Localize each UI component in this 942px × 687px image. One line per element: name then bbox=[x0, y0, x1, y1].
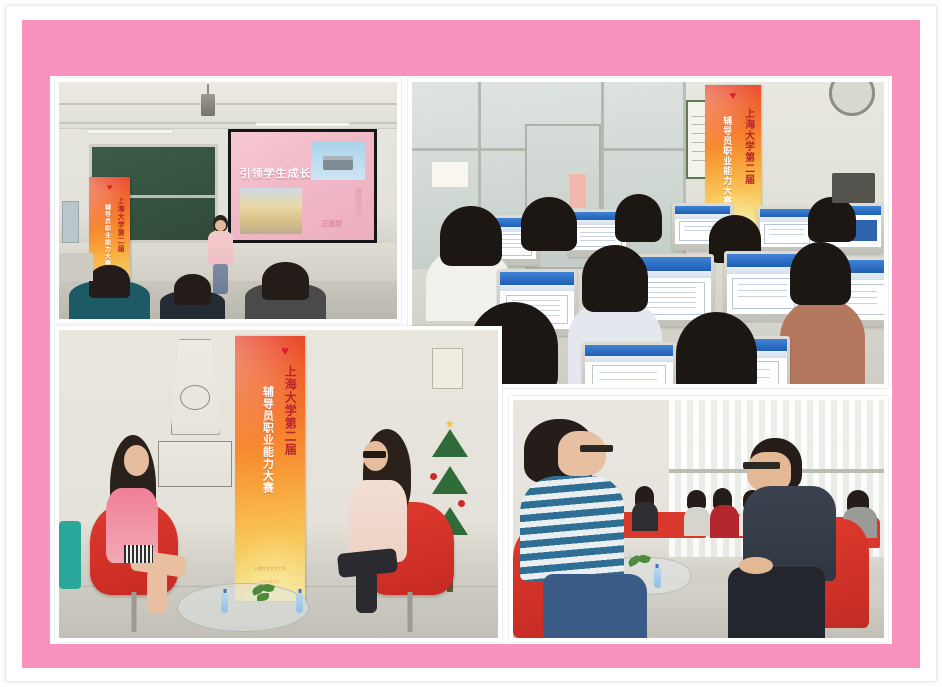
observer-body bbox=[710, 505, 740, 538]
teal-stool bbox=[59, 521, 81, 589]
lab-person-head bbox=[790, 242, 851, 305]
photo-lounge-discussion[interactable] bbox=[509, 396, 888, 642]
wall-clock-icon bbox=[829, 82, 875, 116]
person-face bbox=[558, 431, 606, 476]
lab-person-head bbox=[582, 245, 648, 311]
water-bottle bbox=[296, 593, 303, 613]
monitor-screen bbox=[585, 345, 673, 384]
presenter-face bbox=[215, 220, 226, 231]
observer-body bbox=[632, 502, 658, 531]
projection-screen: 引领学生成长 跨越成长 正面型 bbox=[228, 129, 377, 243]
room-scene: ★ ♥ 上海大学第二届 辅导员职业能力大赛 上海大学学生工作 2014年5月 bbox=[59, 330, 498, 638]
banner-text-white: 辅导员职业能力大赛 bbox=[721, 116, 734, 206]
heart-logo-icon: ♥ bbox=[730, 91, 737, 102]
slide-image-building bbox=[311, 141, 365, 180]
person-hands bbox=[739, 557, 772, 574]
banner-text-white: 辅导员职业能力大赛 bbox=[259, 386, 275, 494]
person-leg bbox=[147, 570, 168, 613]
computer-monitor bbox=[582, 342, 676, 384]
wall-unit bbox=[62, 201, 79, 244]
equipment-cart bbox=[59, 253, 93, 281]
person-striped-polo bbox=[520, 476, 624, 581]
banner-text-red: 上海大学第二届 bbox=[741, 108, 756, 185]
audience-head bbox=[174, 274, 211, 305]
collage-canvas: 引领学生成长 跨越成长 正面型 ♥ 上海大学第二届 辅导员职业能力大赛 bbox=[0, 0, 942, 687]
ceiling-projector bbox=[201, 94, 215, 116]
slide-subtitle: 跨越成长 bbox=[352, 188, 362, 216]
classroom-scene: 引领学生成长 跨越成长 正面型 ♥ 上海大学第二届 辅导员职业能力大赛 bbox=[59, 82, 397, 319]
rollup-banner: ♥ 上海大学第二届 辅导员职业能力大赛 上海大学学生工作 2014年5月 bbox=[235, 336, 305, 601]
banner-footer-line1: 上海大学学生工作 bbox=[254, 566, 286, 572]
fluorescent-light bbox=[86, 129, 174, 134]
audience-head bbox=[262, 262, 309, 300]
lab-person-head bbox=[521, 197, 578, 251]
monitor-screen bbox=[760, 209, 815, 247]
slide-surface: 引领学生成长 跨越成长 正面型 bbox=[231, 132, 374, 240]
eyeglasses-icon bbox=[580, 445, 613, 452]
person-trousers bbox=[728, 567, 824, 638]
slide-title: 引领学生成长 bbox=[240, 165, 312, 181]
lab-person-head bbox=[615, 194, 662, 242]
fluorescent-light bbox=[255, 122, 350, 127]
lounge-scene bbox=[513, 400, 884, 638]
audience-head bbox=[89, 265, 130, 298]
lab-equipment bbox=[832, 173, 874, 203]
person-jeans bbox=[543, 574, 647, 638]
banner-text-red: 上海大学第二届 bbox=[115, 197, 125, 253]
banner-text-red: 上海大学第二届 bbox=[282, 365, 299, 456]
presenter-jeans bbox=[213, 264, 228, 294]
wall-paper-notice bbox=[431, 161, 469, 188]
lab-person-head bbox=[440, 206, 501, 266]
glass-coffee-table bbox=[178, 583, 310, 632]
water-bottle bbox=[221, 593, 228, 613]
eyeglasses-icon bbox=[363, 451, 386, 458]
lab-person-head bbox=[676, 312, 756, 384]
person-left bbox=[94, 435, 208, 614]
slide-presenter-name: 正面型 bbox=[321, 219, 342, 229]
presenter-top bbox=[208, 231, 233, 265]
photo-counselling-room[interactable]: ★ ♥ 上海大学第二届 辅导员职业能力大赛 上海大学学生工作 2014年5月 bbox=[55, 326, 502, 642]
heart-logo-icon: ♥ bbox=[281, 344, 289, 357]
person-skirt bbox=[124, 545, 154, 563]
ceiling-beam bbox=[59, 103, 397, 105]
photo-area: 引领学生成长 跨越成长 正面型 ♥ 上海大学第二届 辅导员职业能力大赛 bbox=[50, 76, 892, 644]
person-leg bbox=[356, 571, 377, 614]
wall-certificate bbox=[432, 348, 463, 388]
heart-logo-icon: ♥ bbox=[107, 183, 112, 192]
eyeglasses-icon bbox=[743, 462, 780, 469]
lab-person-body bbox=[780, 299, 865, 384]
observer-body bbox=[684, 507, 710, 536]
photo-classroom-presentation[interactable]: 引领学生成长 跨越成长 正面型 ♥ 上海大学第二届 辅导员职业能力大赛 bbox=[55, 78, 401, 323]
slide-image-crowd bbox=[240, 188, 303, 233]
person-face bbox=[124, 445, 149, 475]
banner-text-white: 辅导员职业能力大赛 bbox=[102, 204, 111, 267]
wall-paper-red bbox=[568, 173, 587, 209]
water-bottle bbox=[654, 568, 661, 588]
person-right bbox=[331, 429, 445, 614]
table-plant bbox=[252, 584, 278, 610]
lab-person-head bbox=[808, 197, 855, 242]
clock-drawing-dial bbox=[180, 385, 210, 410]
